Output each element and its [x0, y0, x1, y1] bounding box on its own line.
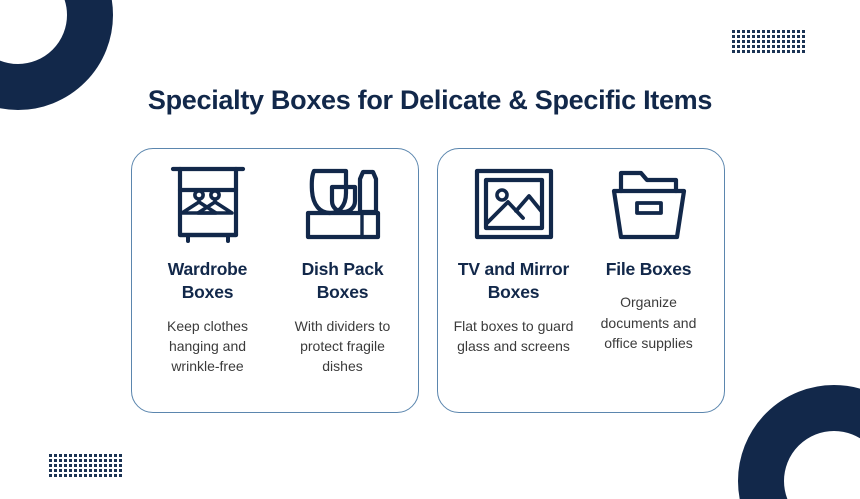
dot	[802, 45, 805, 48]
dot	[752, 50, 755, 53]
dot	[747, 35, 750, 38]
dot	[94, 469, 97, 472]
dot	[737, 30, 740, 33]
dot	[49, 474, 52, 477]
dot	[792, 45, 795, 48]
dot	[802, 30, 805, 33]
dot	[99, 464, 102, 467]
feature-tv-and-mirror-boxes: TV and Mirror Boxes Flat boxes to guard …	[446, 163, 581, 402]
dot	[777, 30, 780, 33]
dot	[752, 40, 755, 43]
dot	[797, 40, 800, 43]
feature-title: TV and Mirror Boxes	[450, 258, 577, 305]
dot	[79, 469, 82, 472]
dot	[104, 464, 107, 467]
feature-description: Organize documents and office supplies	[585, 292, 712, 353]
dot	[752, 45, 755, 48]
dot	[94, 454, 97, 457]
dot	[797, 50, 800, 53]
dot	[59, 454, 62, 457]
dot	[89, 459, 92, 462]
dot	[767, 35, 770, 38]
dish-pack-box-icon	[300, 163, 386, 245]
dot	[84, 469, 87, 472]
dot	[762, 35, 765, 38]
dot-grid-bottom-left	[49, 454, 122, 477]
dot	[782, 30, 785, 33]
dot	[797, 30, 800, 33]
dot	[757, 50, 760, 53]
dot	[89, 464, 92, 467]
dot	[94, 474, 97, 477]
dot	[742, 30, 745, 33]
dot	[767, 30, 770, 33]
dot	[752, 35, 755, 38]
dot	[792, 30, 795, 33]
dot	[114, 459, 117, 462]
dot	[114, 469, 117, 472]
dot	[802, 40, 805, 43]
dot	[782, 50, 785, 53]
dot	[732, 30, 735, 33]
dot	[792, 40, 795, 43]
dot	[119, 459, 122, 462]
feature-description: Flat boxes to guard glass and screens	[450, 316, 577, 357]
dot	[742, 45, 745, 48]
dot	[99, 454, 102, 457]
dot	[119, 464, 122, 467]
dot	[752, 30, 755, 33]
dot	[762, 40, 765, 43]
dot	[742, 40, 745, 43]
dot	[772, 40, 775, 43]
dot	[109, 469, 112, 472]
picture-frame-icon	[472, 163, 556, 245]
dot	[772, 50, 775, 53]
dot	[69, 469, 72, 472]
dot	[802, 50, 805, 53]
feature-dish-pack-boxes: Dish Pack Boxes With dividers to protect…	[275, 163, 410, 402]
feature-description: With dividers to protect fragile dishes	[279, 316, 406, 377]
dot	[742, 50, 745, 53]
dot	[104, 469, 107, 472]
dot	[64, 459, 67, 462]
dot	[747, 40, 750, 43]
dot	[79, 474, 82, 477]
feature-title: Wardrobe Boxes	[144, 258, 271, 305]
dot	[79, 464, 82, 467]
dot	[109, 464, 112, 467]
dot	[747, 30, 750, 33]
dot	[762, 30, 765, 33]
dot	[802, 35, 805, 38]
dot	[792, 50, 795, 53]
dot	[737, 35, 740, 38]
cards-container: Wardrobe Boxes Keep clothes hanging and …	[131, 148, 725, 413]
dot	[69, 474, 72, 477]
dot	[64, 474, 67, 477]
dot	[777, 50, 780, 53]
dot	[757, 30, 760, 33]
slide-canvas: Specialty Boxes for Delicate & Specific …	[0, 0, 860, 499]
dot	[94, 459, 97, 462]
dot	[757, 40, 760, 43]
dot	[109, 454, 112, 457]
dot	[787, 30, 790, 33]
dot	[772, 45, 775, 48]
dot	[104, 459, 107, 462]
dot	[49, 459, 52, 462]
dot	[767, 45, 770, 48]
card-group-2: TV and Mirror Boxes Flat boxes to guard …	[437, 148, 725, 413]
file-folder-icon	[607, 163, 691, 245]
dot	[737, 45, 740, 48]
dot	[74, 459, 77, 462]
dot	[757, 35, 760, 38]
dot	[732, 45, 735, 48]
dot	[59, 474, 62, 477]
dot	[49, 454, 52, 457]
dot	[89, 454, 92, 457]
dot	[772, 30, 775, 33]
dot	[89, 474, 92, 477]
dot	[104, 454, 107, 457]
dot	[797, 35, 800, 38]
dot	[109, 474, 112, 477]
dot	[797, 45, 800, 48]
dot	[54, 469, 57, 472]
dot	[747, 45, 750, 48]
dot	[59, 459, 62, 462]
dot	[84, 474, 87, 477]
dot	[732, 35, 735, 38]
dot	[64, 469, 67, 472]
dot	[84, 464, 87, 467]
dot	[64, 454, 67, 457]
dot	[54, 464, 57, 467]
dot	[777, 45, 780, 48]
dot	[772, 35, 775, 38]
dot	[114, 474, 117, 477]
dot	[54, 474, 57, 477]
dot	[757, 45, 760, 48]
dot	[79, 454, 82, 457]
dot	[777, 35, 780, 38]
feature-file-boxes: File Boxes Organize documents and office…	[581, 163, 716, 402]
dot	[74, 474, 77, 477]
dot	[84, 459, 87, 462]
feature-title: Dish Pack Boxes	[279, 258, 406, 305]
dot	[737, 40, 740, 43]
dot	[49, 464, 52, 467]
dot	[782, 40, 785, 43]
dot	[762, 45, 765, 48]
dot	[69, 459, 72, 462]
dot	[782, 35, 785, 38]
dot	[99, 469, 102, 472]
dot	[119, 469, 122, 472]
feature-title: File Boxes	[606, 258, 692, 281]
dot	[69, 464, 72, 467]
dot	[119, 454, 122, 457]
dot	[787, 50, 790, 53]
dot-grid-top-right	[732, 30, 805, 53]
feature-wardrobe-boxes: Wardrobe Boxes Keep clothes hanging and …	[140, 163, 275, 402]
dot	[74, 469, 77, 472]
dot	[74, 464, 77, 467]
feature-description: Keep clothes hanging and wrinkle-free	[144, 316, 271, 377]
dot	[54, 454, 57, 457]
dot	[742, 35, 745, 38]
dot	[767, 40, 770, 43]
dot	[767, 50, 770, 53]
dot	[69, 454, 72, 457]
dot	[104, 474, 107, 477]
dot	[94, 464, 97, 467]
dot	[732, 40, 735, 43]
page-title: Specialty Boxes for Delicate & Specific …	[0, 85, 860, 116]
dot	[737, 50, 740, 53]
dot	[109, 459, 112, 462]
dot	[99, 474, 102, 477]
dot	[89, 469, 92, 472]
dot	[84, 454, 87, 457]
dot	[114, 464, 117, 467]
dot	[114, 454, 117, 457]
dot	[49, 469, 52, 472]
card-group-1: Wardrobe Boxes Keep clothes hanging and …	[131, 148, 419, 413]
dot	[74, 454, 77, 457]
dot	[59, 464, 62, 467]
dot	[732, 50, 735, 53]
dot	[787, 45, 790, 48]
dot	[54, 459, 57, 462]
dot	[787, 40, 790, 43]
dot	[792, 35, 795, 38]
wardrobe-box-icon	[166, 163, 250, 245]
dot	[79, 459, 82, 462]
dot	[762, 50, 765, 53]
dot	[787, 35, 790, 38]
dot	[747, 50, 750, 53]
dot	[119, 474, 122, 477]
dot	[99, 459, 102, 462]
dot	[777, 40, 780, 43]
dot	[59, 469, 62, 472]
ring-arc-decoration-bottom-right	[738, 385, 860, 499]
dot	[64, 464, 67, 467]
dot	[782, 45, 785, 48]
